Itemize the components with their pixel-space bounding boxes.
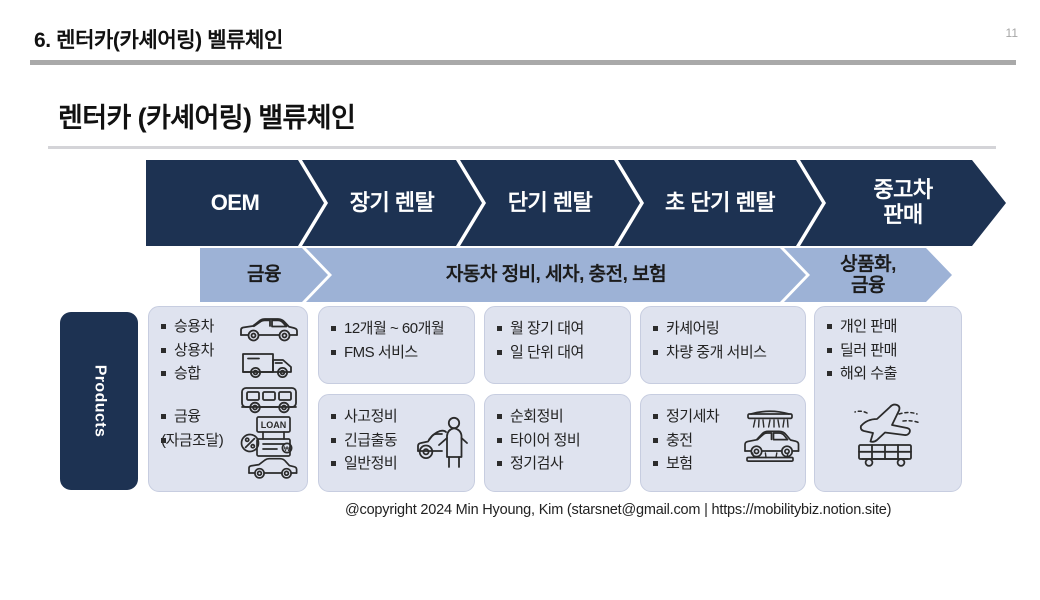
card-long-term-maintenance-list: 사고정비 긴급출동 일반정비: [331, 405, 397, 476]
list-item: 긴급출동: [331, 429, 397, 453]
stage-used-car-sales[interactable]: 중고차 판매: [800, 160, 1006, 246]
car-wash-icon: [739, 407, 801, 470]
substage-commercialization[interactable]: 상품화, 금융: [784, 248, 952, 302]
stage-short-term-rental[interactable]: 단기 렌탈: [460, 160, 640, 246]
list-item: 충전: [653, 429, 719, 453]
list-item: 사고정비: [331, 405, 397, 429]
stage-ultra-short-term-rental-label: 초 단기 렌탈: [665, 191, 775, 216]
substage-finance[interactable]: 금융: [200, 248, 328, 302]
slide-header: 6. 렌터카(카셰어링) 벨류체인 11: [0, 0, 1040, 66]
products-rail-label: Products: [90, 365, 108, 438]
substage-maintenance-label: 자동차 정비, 세차, 충전, 보험: [446, 264, 666, 285]
list-item: 보험: [653, 452, 719, 476]
list-item: 월 장기 대여: [497, 317, 584, 341]
card-long-term-offerings[interactable]: 12개월 ~ 60개월 FMS 서비스: [318, 306, 475, 384]
card-oem-products[interactable]: 승용차 상용차 승합 금융 (자금조달): [148, 306, 308, 492]
stage-ultra-short-term-rental[interactable]: 초 단기 렌탈: [618, 160, 822, 246]
stage-oem-label: OEM: [211, 191, 260, 216]
card-oem-list-finance: 금융 (자금조달): [161, 405, 223, 452]
page-number: 11: [1006, 26, 1018, 40]
substage-maintenance[interactable]: 자동차 정비, 세차, 충전, 보험: [306, 248, 806, 302]
list-item: 승용차: [161, 315, 214, 339]
card-ultra-short-term-offerings-list: 카셰어링 차량 중개 서비스: [653, 317, 766, 364]
primary-stage-band: OEM 장기 렌탈 단기 렌탈 초 단기 렌탈 중고차 판매: [146, 160, 1006, 246]
list-item: 타이어 정비: [497, 429, 580, 453]
stage-long-term-rental[interactable]: 장기 렌탈: [302, 160, 482, 246]
secondary-stage-band: 금융 자동차 정비, 세차, 충전, 보험 상품화, 금융: [200, 248, 1006, 302]
card-short-term-offerings-list: 월 장기 대여 일 단위 대여: [497, 317, 584, 364]
stage-oem[interactable]: OEM: [146, 160, 324, 246]
list-item: 해외 수출: [827, 362, 897, 386]
list-item: 차량 중개 서비스: [653, 341, 766, 365]
car-repair-mechanic-icon: [415, 415, 469, 476]
list-item: 금융: [161, 405, 223, 429]
card-oem-list: 승용차 상용차 승합: [161, 315, 214, 386]
page-title: 6. 렌터카(카셰어링) 벨류체인: [34, 24, 283, 54]
sedan-car-icon: [237, 317, 299, 348]
svg-text:₩: ₩: [284, 446, 291, 453]
list-item: 순회정비: [497, 405, 580, 429]
list-item: 일반정비: [331, 452, 397, 476]
card-used-car-sales-list: 개인 판매 딜러 판매 해외 수출: [827, 315, 897, 386]
card-short-term-maintenance-list: 순회정비 타이어 정비 정기검사: [497, 405, 580, 476]
airplane-export-icon: [845, 399, 925, 474]
list-item: (자금조달): [161, 429, 223, 453]
substage-commercialization-label: 상품화, 금융: [840, 254, 896, 297]
card-ultra-short-term-services[interactable]: 정기세차 충전 보험: [640, 394, 806, 492]
card-long-term-offerings-list: 12개월 ~ 60개월 FMS 서비스: [331, 317, 444, 364]
chart-title-divider: [48, 146, 996, 149]
list-item: 12개월 ~ 60개월: [331, 317, 444, 341]
card-ultra-short-term-services-list: 정기세차 충전 보험: [653, 405, 719, 476]
list-item: FMS 서비스: [331, 341, 444, 365]
substage-finance-label: 금융: [247, 264, 281, 285]
list-item: 상용차: [161, 339, 214, 363]
svg-text:LOAN: LOAN: [261, 420, 287, 430]
products-rail: Products: [60, 312, 138, 490]
car-loan-icon: LOAN ₩: [237, 415, 299, 486]
card-short-term-offerings[interactable]: 월 장기 대여 일 단위 대여: [484, 306, 631, 384]
card-ultra-short-term-offerings[interactable]: 카셰어링 차량 중개 서비스: [640, 306, 806, 384]
list-item: 정기세차: [653, 405, 719, 429]
card-used-car-sales[interactable]: 개인 판매 딜러 판매 해외 수출: [814, 306, 962, 492]
stage-short-term-rental-label: 단기 렌탈: [508, 191, 593, 216]
card-long-term-maintenance[interactable]: 사고정비 긴급출동 일반정비: [318, 394, 475, 492]
chart-title: 렌터카 (카셰어링) 밸류체인: [58, 96, 355, 135]
list-item: 카셰어링: [653, 317, 766, 341]
valuechain-board: 렌터카 (카셰어링) 밸류체인 OEM 장기 렌탈 단기 렌탈 초 단기 렌탈 …: [0, 66, 1040, 600]
list-item: 승합: [161, 362, 214, 386]
delivery-truck-icon: [241, 350, 297, 385]
list-item: 딜러 판매: [827, 339, 897, 363]
stage-long-term-rental-label: 장기 렌탈: [350, 191, 435, 216]
copyright-text: @copyright 2024 Min Hyoung, Kim (starsne…: [345, 502, 891, 518]
list-item: 개인 판매: [827, 315, 897, 339]
card-short-term-maintenance[interactable]: 순회정비 타이어 정비 정기검사: [484, 394, 631, 492]
list-item: 정기검사: [497, 452, 580, 476]
header-divider: [30, 60, 1016, 65]
stage-used-car-sales-label: 중고차 판매: [873, 178, 932, 227]
list-item: 일 단위 대여: [497, 341, 584, 365]
